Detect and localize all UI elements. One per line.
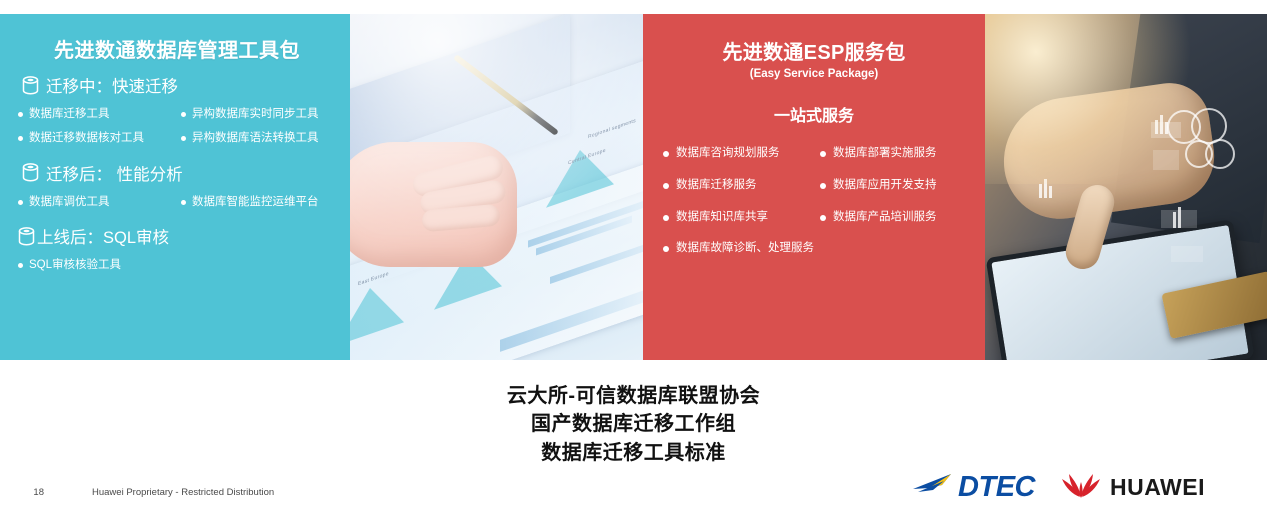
list-item-label: 数据库迁移工具 bbox=[29, 108, 110, 122]
headline-line-2: 国产数据库迁移工作组 bbox=[0, 410, 1267, 438]
huawei-wordmark: HUAWEI bbox=[1110, 476, 1205, 499]
list-item-label: 数据库产品培训服务 bbox=[833, 211, 937, 225]
hud-bar bbox=[1039, 184, 1042, 198]
teal-section-label-1: 迁移中：快速迁移 bbox=[46, 73, 178, 97]
bullet-dot-icon bbox=[820, 215, 826, 221]
banner-strip: 先进数通数据库管理工具包 迁移中：快速迁移 数据库迁移工具 异构数据库实时同步工… bbox=[0, 14, 1267, 360]
list-item: 数据库咨询规划服务 bbox=[657, 138, 814, 170]
list-item: 异构数据库语法转换工具 bbox=[177, 127, 340, 151]
list-item: 异构数据库实时同步工具 bbox=[177, 103, 340, 127]
list-item-label: 数据库应用开发支持 bbox=[833, 179, 937, 193]
bullet-dot-icon bbox=[18, 112, 23, 117]
list-item-label: 数据库智能监控运维平台 bbox=[192, 196, 319, 210]
list-item-label: 异构数据库实时同步工具 bbox=[192, 108, 319, 122]
bullet-dot-icon bbox=[663, 151, 669, 157]
teal-bullet-list-2: 数据库调优工具 数据库智能监控运维平台 bbox=[14, 191, 340, 215]
teal-section-heading-3: 上线后：SQL审核 bbox=[18, 224, 340, 248]
footer-left: 18 Huawei Proprietary - Restricted Distr… bbox=[0, 482, 500, 502]
list-item: 数据迁移数据核对工具 bbox=[14, 127, 177, 151]
headline-line-3: 数据库迁移工具标准 bbox=[0, 439, 1267, 467]
hud-panel bbox=[1171, 246, 1203, 262]
bullet-dot-icon bbox=[820, 151, 826, 157]
dtec-logo: DTEC bbox=[911, 472, 1035, 503]
list-item-label: 数据库咨询规划服务 bbox=[676, 147, 780, 161]
database-icon bbox=[18, 227, 35, 246]
hud-ring-icon bbox=[1205, 139, 1235, 169]
photo-charts-analytics: Regional segments Central Europe West Eu… bbox=[350, 14, 643, 360]
teal-panel-title: 先进数通数据库管理工具包 bbox=[14, 34, 340, 63]
bullet-dot-icon bbox=[181, 112, 186, 117]
hud-bar bbox=[1173, 212, 1176, 228]
list-item-label: 数据迁移数据核对工具 bbox=[29, 132, 144, 146]
red-panel-subtitle: (Easy Service Package) bbox=[657, 68, 971, 80]
hud-bar bbox=[1178, 207, 1181, 228]
bullet-dot-icon bbox=[181, 136, 186, 141]
footer-logos: DTEC HUAWEI bbox=[911, 468, 1205, 506]
teal-bullet-list-3: SQL审核核验工具 bbox=[14, 254, 340, 278]
bullet-dot-icon bbox=[18, 263, 23, 268]
red-panel-section-heading: 一站式服务 bbox=[657, 102, 971, 126]
list-item: 数据库迁移服务 bbox=[657, 170, 814, 202]
confidentiality-notice: Huawei Proprietary - Restricted Distribu… bbox=[92, 487, 274, 498]
bullet-dot-icon bbox=[663, 246, 669, 252]
huawei-logo: HUAWEI bbox=[1061, 470, 1205, 505]
teal-section-heading-2: 迁移后： 性能分析 bbox=[22, 161, 340, 185]
list-item-label: 数据库迁移服务 bbox=[676, 179, 757, 193]
list-item: 数据库智能监控运维平台 bbox=[177, 191, 340, 215]
huawei-flower-icon bbox=[1061, 470, 1101, 505]
teal-section-heading-1: 迁移中：快速迁移 bbox=[22, 73, 340, 97]
bullet-dot-icon bbox=[181, 200, 186, 205]
list-item: 数据库迁移工具 bbox=[14, 103, 177, 127]
list-item-label: 数据库知识库共享 bbox=[676, 211, 768, 225]
photo-tablet-touch bbox=[985, 14, 1267, 360]
list-item: 数据库产品培训服务 bbox=[814, 202, 971, 234]
bullet-dot-icon bbox=[18, 136, 23, 141]
list-item-label: 异构数据库语法转换工具 bbox=[192, 132, 319, 146]
headline-block: 云大所-可信数据库联盟协会 国产数据库迁移工作组 数据库迁移工具标准 bbox=[0, 382, 1267, 467]
list-item-label: 数据库故障诊断、处理服务 bbox=[676, 242, 814, 256]
list-item: 数据库故障诊断、处理服务 bbox=[657, 233, 971, 265]
teal-panel: 先进数通数据库管理工具包 迁移中：快速迁移 数据库迁移工具 异构数据库实时同步工… bbox=[0, 14, 350, 360]
teal-section-label-3: 上线后：SQL审核 bbox=[37, 224, 169, 248]
dtec-mark-icon bbox=[911, 472, 957, 503]
bullet-dot-icon bbox=[663, 183, 669, 189]
list-item: SQL审核核验工具 bbox=[14, 254, 340, 278]
database-icon bbox=[22, 76, 39, 95]
bullet-dot-icon bbox=[18, 200, 23, 205]
dtec-wordmark: DTEC bbox=[958, 473, 1035, 502]
sun-flare bbox=[985, 14, 1205, 184]
list-item-label: 数据库部署实施服务 bbox=[833, 147, 937, 161]
list-item: 数据库调优工具 bbox=[14, 191, 177, 215]
bullet-dot-icon bbox=[663, 215, 669, 221]
list-item: 数据库应用开发支持 bbox=[814, 170, 971, 202]
list-item: 数据库知识库共享 bbox=[657, 202, 814, 234]
teal-section-label-2: 迁移后： 性能分析 bbox=[46, 161, 183, 185]
red-panel-title: 先进数通ESP服务包 bbox=[657, 36, 971, 65]
page-number: 18 bbox=[0, 487, 44, 498]
red-bullet-list: 数据库咨询规划服务 数据库部署实施服务 数据库迁移服务 数据库应用开发支持 数据… bbox=[657, 138, 971, 265]
list-item-label: SQL审核核验工具 bbox=[29, 259, 121, 273]
list-item-label: 数据库调优工具 bbox=[29, 196, 110, 210]
teal-bullet-list-1: 数据库迁移工具 异构数据库实时同步工具 数据迁移数据核对工具 异构数据库语法转换… bbox=[14, 103, 340, 151]
list-item: 数据库部署实施服务 bbox=[814, 138, 971, 170]
photo-glare bbox=[350, 14, 643, 360]
database-icon bbox=[22, 163, 39, 182]
hud-bar bbox=[1049, 186, 1052, 198]
red-panel: 先进数通ESP服务包 (Easy Service Package) 一站式服务 … bbox=[643, 14, 985, 360]
bullet-dot-icon bbox=[820, 183, 826, 189]
headline-line-1: 云大所-可信数据库联盟协会 bbox=[0, 382, 1267, 410]
